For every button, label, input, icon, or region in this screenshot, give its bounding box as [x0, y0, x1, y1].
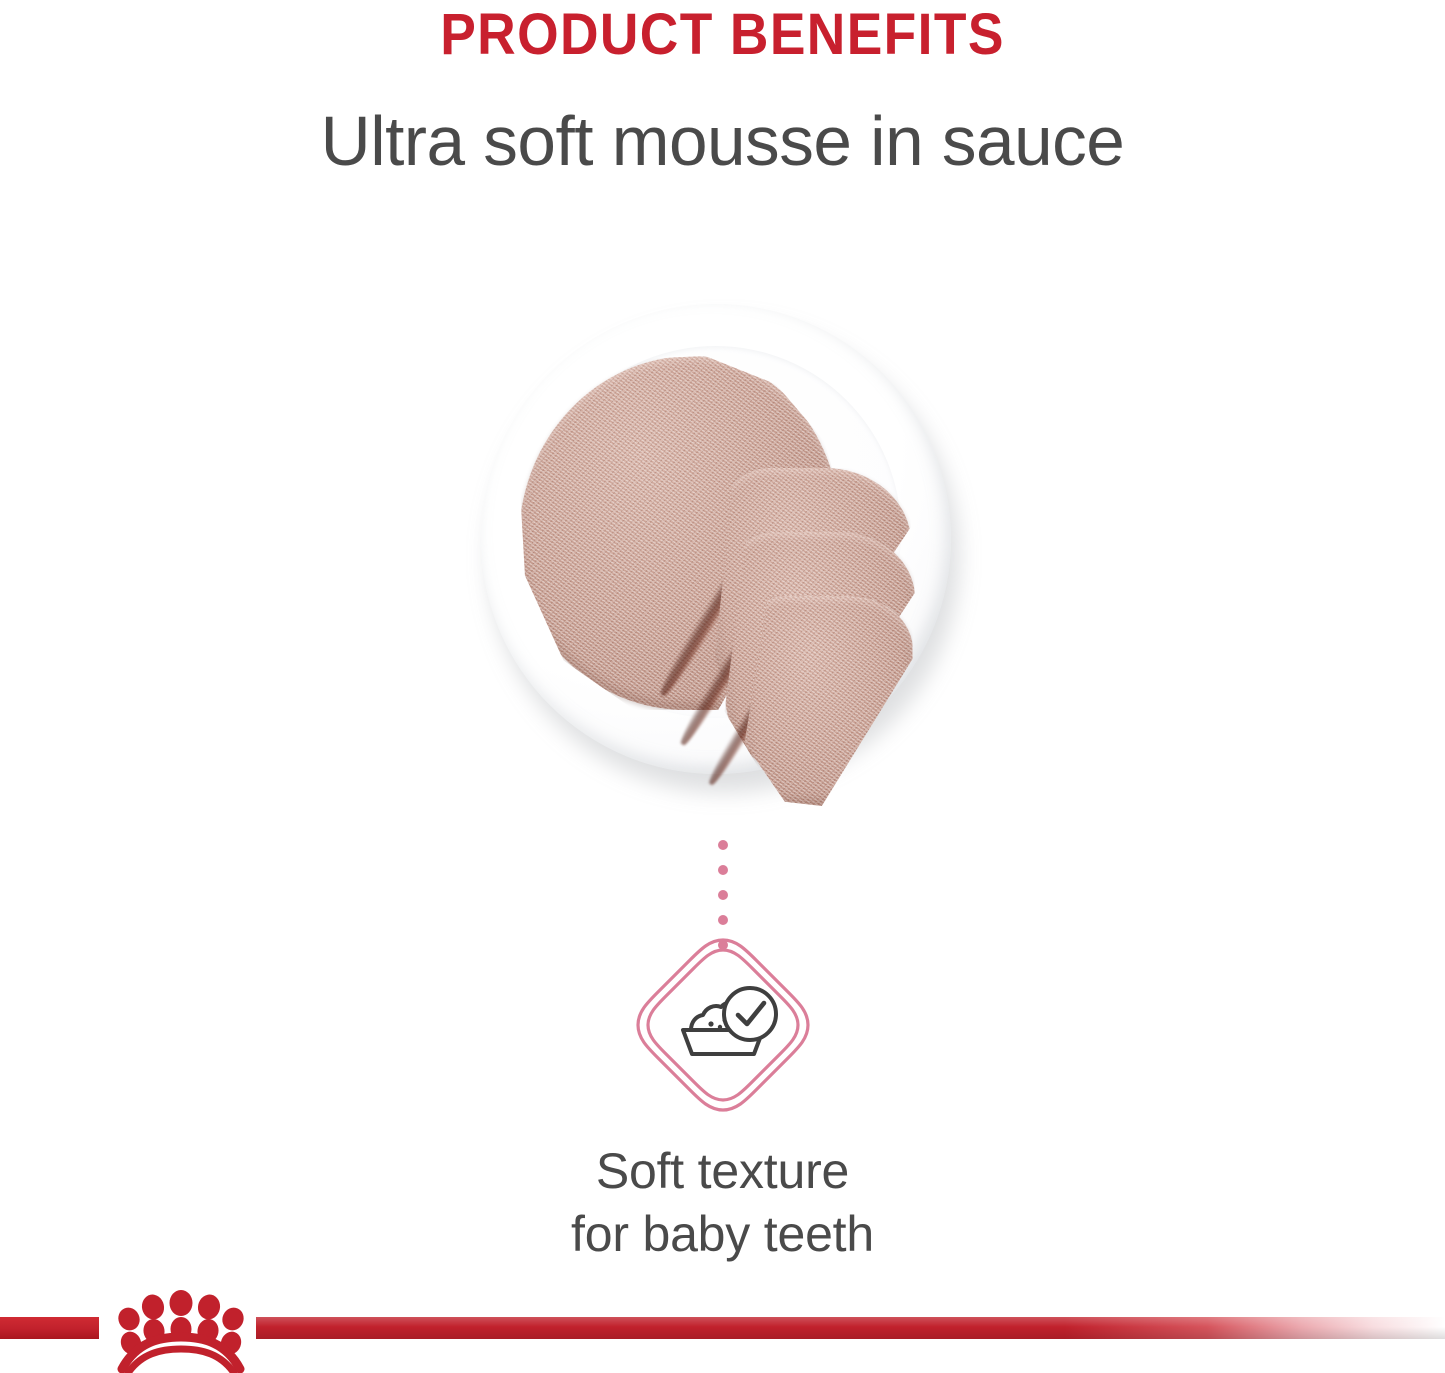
- benefit-block: Soft texture for baby teeth: [0, 930, 1445, 1266]
- benefit-caption-line-1: Soft texture: [596, 1143, 849, 1199]
- connector-dot: [718, 915, 728, 925]
- brand-bar-left-segment: [0, 1317, 99, 1339]
- page-header: PRODUCT BENEFITS Ultra soft mousse in sa…: [0, 0, 1445, 176]
- page-kicker: PRODUCT BENEFITS: [58, 0, 1387, 64]
- crown-logo-icon: [96, 1281, 266, 1373]
- royal-canin-crown-logo: [96, 1281, 266, 1373]
- mousse-food: [519, 356, 913, 748]
- mousse-slice: [745, 596, 913, 806]
- plate: [473, 300, 973, 800]
- food-bowl-check-icon: [628, 930, 818, 1120]
- brand-bar-right-segment: [256, 1317, 1445, 1339]
- benefit-caption-line-2: for baby teeth: [571, 1206, 874, 1262]
- benefit-caption: Soft texture for baby teeth: [0, 1140, 1445, 1266]
- page-title: Ultra soft mousse in sauce: [7, 64, 1438, 176]
- connector-dot: [718, 840, 728, 850]
- connector-dot: [718, 890, 728, 900]
- connector-dot: [718, 865, 728, 875]
- hero-product-image: [0, 290, 1445, 810]
- benefit-badge: [628, 930, 818, 1120]
- footer-brand-bar: [0, 1281, 1445, 1373]
